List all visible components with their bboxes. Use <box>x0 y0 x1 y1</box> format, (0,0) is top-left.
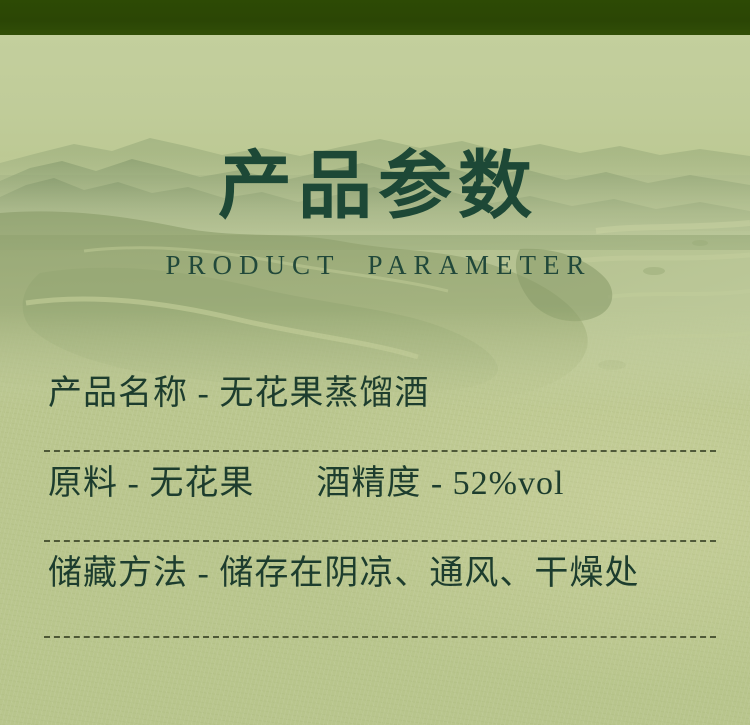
spec-ingredient-abv-line: 原料 - 无花果酒精度 - 52%vol <box>44 452 716 516</box>
spec-row-ingredient-abv: 原料 - 无花果酒精度 - 52%vol <box>44 452 716 542</box>
top-accent-bar <box>0 0 750 35</box>
spec-row-product-name: 产品名称 - 无花果蒸馏酒 <box>44 362 716 452</box>
page-header: 产品参数 PRODUCT PARAMETER <box>0 150 750 281</box>
product-parameter-page: 产品参数 PRODUCT PARAMETER 产品名称 - 无花果蒸馏酒 原料 … <box>0 0 750 725</box>
spec-divider-3 <box>44 636 716 638</box>
spec-product-name: 产品名称 - 无花果蒸馏酒 <box>44 362 716 426</box>
page-title: 产品参数 <box>0 150 750 224</box>
spec-storage-method: 储藏方法 - 储存在阴凉、通风、干燥处 <box>44 542 716 606</box>
specs-list: 产品名称 - 无花果蒸馏酒 原料 - 无花果酒精度 - 52%vol 储藏方法 … <box>44 362 716 638</box>
spec-alcohol-content: 酒精度 - 52%vol <box>316 452 564 516</box>
spec-ingredient: 原料 - 无花果 <box>48 452 254 516</box>
page-subtitle: PRODUCT PARAMETER <box>0 250 750 281</box>
spec-row-storage: 储藏方法 - 储存在阴凉、通风、干燥处 <box>44 542 716 638</box>
